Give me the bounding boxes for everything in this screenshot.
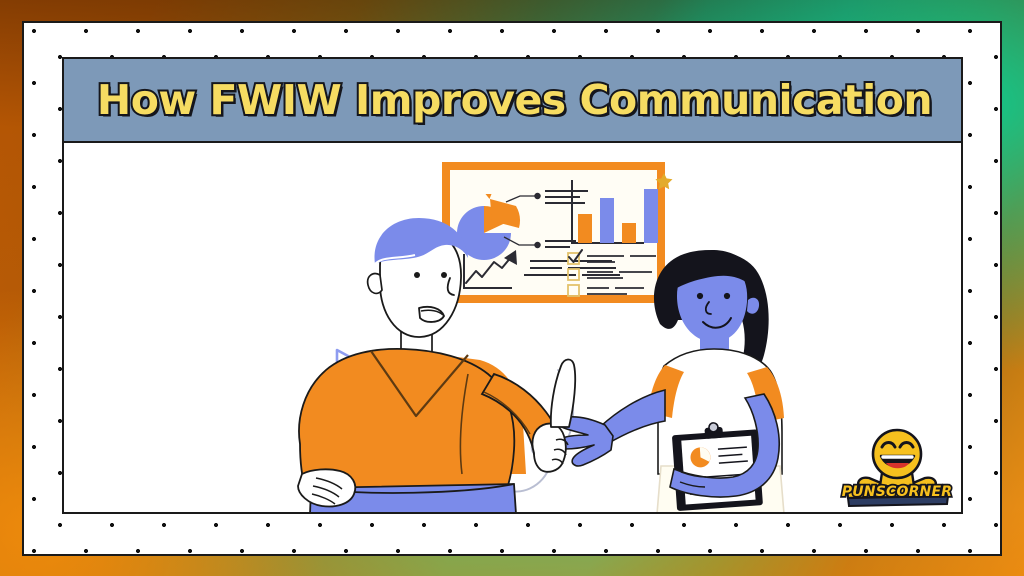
slide-card: How FWIW Improves Communication [62,57,963,514]
logo-wordmark: PUNSCORNER [842,484,952,500]
punscorner-logo[interactable]: PUNSCORNER [839,426,955,510]
slide-title-bar: How FWIW Improves Communication [63,58,963,143]
presentation-whiteboard [446,166,673,299]
hand-on-hip [298,469,355,506]
slide-title: How FWIW Improves Communication [97,76,932,124]
slide-image: How FWIW Improves Communication [0,0,1024,576]
illustration-area [64,144,963,514]
